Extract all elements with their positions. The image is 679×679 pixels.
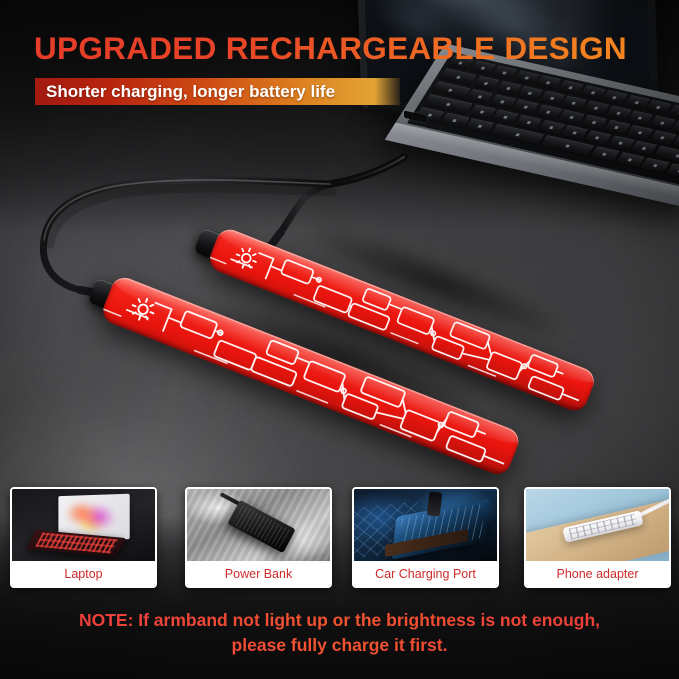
card-laptop-label-text: Laptop [64,567,102,581]
note-text: NOTE: If armband not light up or the bri… [0,608,679,658]
product-marketing-image: UPGRADED RECHARGEABLE DESIGN Shorter cha… [0,0,679,679]
card-phone-adapter[interactable]: Phone adapter [524,487,671,588]
card-power-bank-label: Power Bank [187,561,330,586]
card-laptop[interactable]: Laptop [10,487,157,588]
note-line-2: please fully charge it first. [0,633,679,658]
card-car-charging-port-label: Car Charging Port [354,561,497,586]
card-laptop-label: Laptop [12,561,155,586]
card-phone-adapter-image [526,489,669,561]
card-phone-adapter-label-text: Phone adapter [556,567,638,581]
card-car-charging-port[interactable]: Car Charging Port [352,487,499,588]
subtitle-text: Shorter charging, longer battery life [35,82,335,102]
card-phone-adapter-label: Phone adapter [526,561,669,586]
note-line-1: NOTE: If armband not light up or the bri… [0,608,679,633]
card-power-bank[interactable]: Power Bank [185,487,332,588]
card-power-bank-label-text: Power Bank [225,567,292,581]
card-car-charging-port-label-text: Car Charging Port [375,567,476,581]
card-laptop-image [12,489,155,561]
page-title: UPGRADED RECHARGEABLE DESIGN [34,30,627,67]
subtitle-banner: Shorter charging, longer battery life [35,78,400,105]
compatible-devices-row: Laptop Power Bank [0,487,679,587]
card-power-bank-image [187,489,330,561]
card-car-charging-port-image [354,489,497,561]
